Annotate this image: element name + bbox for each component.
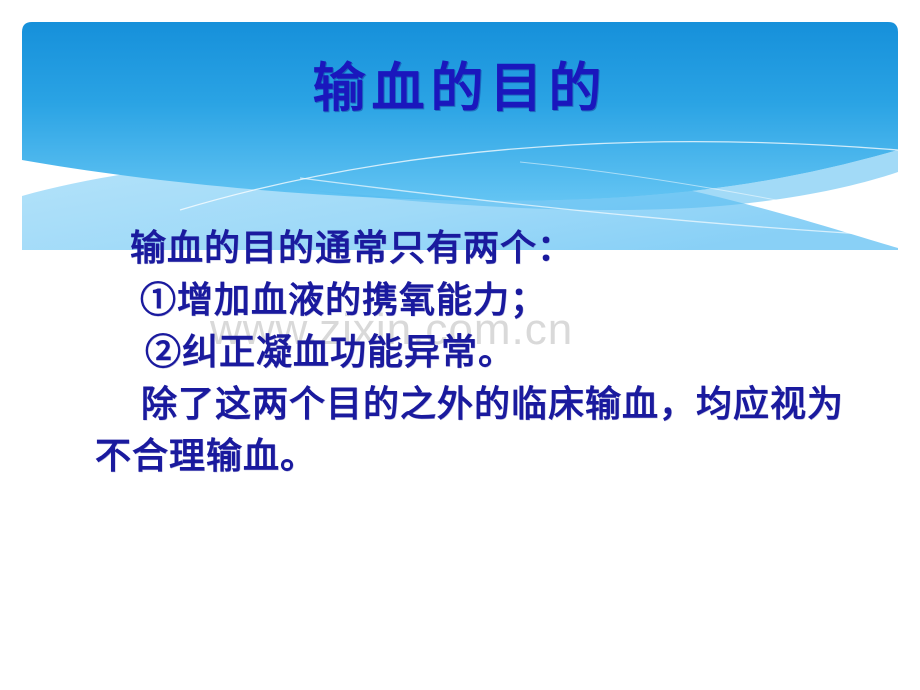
body-intro-line: 输血的目的通常只有两个： bbox=[0, 222, 920, 274]
body-content: 输血的目的通常只有两个： ①增加血液的携氧能力； ②纠正凝血功能异常。 除了这两… bbox=[0, 222, 920, 482]
banner-wedge-mid bbox=[300, 150, 898, 210]
banner-highlight-curve-3 bbox=[520, 162, 898, 224]
page-title: 输血的目的 bbox=[22, 57, 898, 119]
body-list-item-2: ②纠正凝血功能异常。 bbox=[0, 326, 920, 378]
body-list-item-1: ①增加血液的携氧能力； bbox=[0, 274, 920, 326]
banner-highlight-curve-1 bbox=[180, 142, 898, 210]
body-closing-paragraph: 除了这两个目的之外的临床输血，均应视为不合理输血。 bbox=[0, 378, 920, 482]
slide-canvas: 输血的目的 www.zixin.com.cn 输血的目的通常只有两个： ①增加血… bbox=[0, 0, 920, 690]
